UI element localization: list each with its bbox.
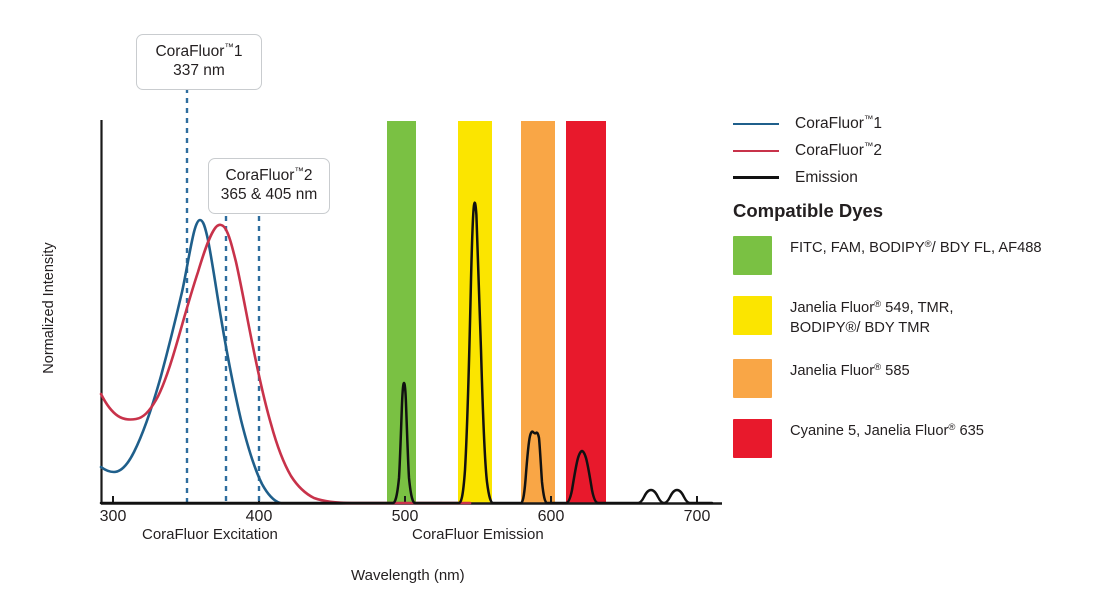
x-tick-500: 500 (382, 508, 428, 526)
callout-corafluor1-line2: 337 nm (147, 62, 251, 81)
series-corafluor1 (101, 220, 280, 503)
band-orange (521, 121, 555, 503)
legend-swatch-emission (733, 176, 779, 179)
y-axis-label: Normalized Intensity (41, 238, 57, 378)
x-axis-label: Wavelength (nm) (351, 567, 465, 584)
band-red (566, 121, 606, 503)
dye-item-red: Cyanine 5, Janelia Fluor® 635 (733, 419, 1093, 458)
compatible-dyes-title: Compatible Dyes (733, 200, 883, 222)
legend-label-corafluor2: CoraFluor™2 (795, 141, 882, 160)
callout-corafluor1-line1: CoraFluor™1 (147, 42, 251, 62)
compatible-dyes-list: FITC, FAM, BODIPY®/ BDY FL, AF488 Janeli… (733, 236, 1093, 479)
dye-item-orange: Janelia Fluor® 585 (733, 359, 1093, 398)
x-tick-300: 300 (90, 508, 136, 526)
dye-label-green: FITC, FAM, BODIPY®/ BDY FL, AF488 (790, 236, 1042, 259)
series-legend: CoraFluor™1 CoraFluor™2 Emission (733, 110, 1073, 191)
legend-item-corafluor2: CoraFluor™2 (733, 137, 1073, 164)
dye-swatch-red (733, 419, 772, 458)
legend-label-corafluor1: CoraFluor™1 (795, 114, 882, 133)
dye-swatch-orange (733, 359, 772, 398)
section-label-excitation: CoraFluor Excitation (142, 526, 278, 543)
dye-label-yellow-line2: BODIPY®/ BDY TMR (790, 319, 953, 339)
dye-swatch-green (733, 236, 772, 275)
legend-swatch-corafluor2 (733, 150, 779, 152)
legend-item-emission: Emission (733, 164, 1073, 191)
band-yellow (458, 121, 492, 503)
dye-bands (387, 121, 606, 503)
x-tick-700: 700 (674, 508, 720, 526)
excitation-markers (187, 88, 259, 503)
callout-corafluor2-line2: 365 & 405 nm (219, 186, 319, 205)
section-label-emission: CoraFluor Emission (412, 526, 544, 543)
dye-item-green: FITC, FAM, BODIPY®/ BDY FL, AF488 (733, 236, 1093, 275)
dye-label-yellow: Janelia Fluor® 549, TMR,BODIPY®/ BDY TMR (790, 296, 953, 338)
dye-item-yellow: Janelia Fluor® 549, TMR,BODIPY®/ BDY TMR (733, 296, 1093, 338)
x-tick-600: 600 (528, 508, 574, 526)
dye-label-red: Cyanine 5, Janelia Fluor® 635 (790, 419, 984, 442)
dye-label-orange: Janelia Fluor® 585 (790, 359, 910, 382)
callout-corafluor1: CoraFluor™1 337 nm (136, 34, 262, 90)
callout-corafluor2: CoraFluor™2 365 & 405 nm (208, 158, 330, 214)
legend-label-emission: Emission (795, 169, 858, 187)
legend-swatch-corafluor1 (733, 123, 779, 125)
dye-swatch-yellow (733, 296, 772, 335)
callout-corafluor2-line1: CoraFluor™2 (219, 166, 319, 186)
x-tick-400: 400 (236, 508, 282, 526)
legend-item-corafluor1: CoraFluor™1 (733, 110, 1073, 137)
